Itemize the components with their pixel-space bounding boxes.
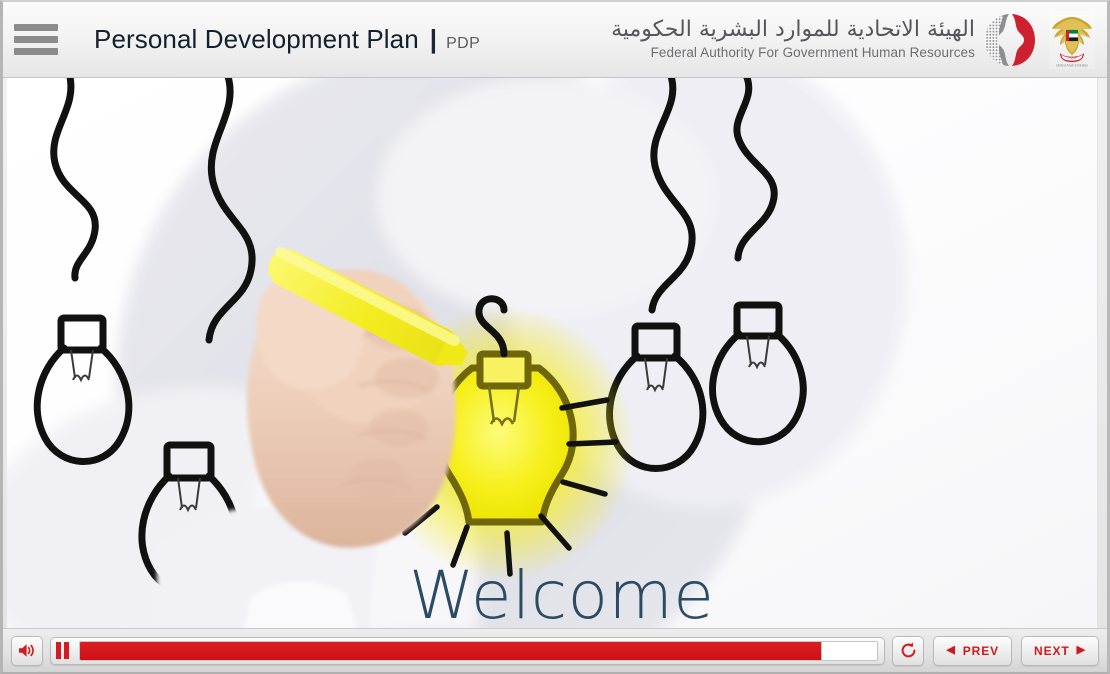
- next-button[interactable]: NEXT ▶: [1021, 636, 1099, 666]
- brand-name-english: Federal Authority For Government Human R…: [611, 46, 975, 60]
- chevron-left-icon: ◀: [946, 645, 955, 656]
- next-button-label: NEXT: [1034, 644, 1070, 658]
- hamburger-bar: [14, 36, 58, 43]
- page-title: Personal Development Plan | PDP: [94, 24, 480, 55]
- player-control-bar: ◀ PREV NEXT ▶: [3, 628, 1107, 672]
- brand-name-arabic: الهيئة الاتحادية للموارد البشرية الحكومي…: [611, 19, 975, 41]
- slide-content-area: Welcome to YOUR development: [7, 78, 1098, 632]
- progress-handle[interactable]: [821, 642, 838, 660]
- volume-icon: [18, 643, 36, 658]
- page-title-abbreviation: PDP: [446, 35, 480, 53]
- seekbar-container: [50, 637, 885, 665]
- fahr-faces-logo-icon: [983, 12, 1037, 68]
- progress-slider[interactable]: [79, 641, 878, 661]
- replay-button[interactable]: [892, 636, 924, 666]
- prev-button[interactable]: ◀ PREV: [933, 636, 1012, 666]
- prev-button-label: PREV: [963, 644, 999, 658]
- hamburger-bar: [14, 24, 58, 31]
- hamburger-bar: [14, 48, 58, 55]
- pause-bar: [56, 642, 61, 659]
- chevron-right-icon: ▶: [1077, 645, 1086, 656]
- brand-text-block: الهيئة الاتحادية للموارد البشرية الحكومي…: [611, 19, 975, 60]
- svg-text:United Arab Emirates: United Arab Emirates: [1056, 63, 1088, 67]
- page-title-main: Personal Development Plan: [94, 24, 419, 55]
- course-player-window: Personal Development Plan | PDP الهيئة ا…: [0, 0, 1110, 674]
- replay-icon: [899, 641, 918, 660]
- volume-button[interactable]: [11, 636, 43, 666]
- title-separator: |: [430, 24, 437, 55]
- slide-illustration: [7, 78, 1097, 632]
- pause-bar: [64, 642, 69, 659]
- progress-fill: [80, 642, 822, 660]
- organization-branding: الهيئة الاتحادية للموارد البشرية الحكومي…: [611, 11, 1107, 69]
- uae-falcon-emblem-icon: الإمارات United Arab Emirates: [1049, 11, 1095, 69]
- hamburger-menu-icon[interactable]: [10, 18, 70, 61]
- app-header: Personal Development Plan | PDP الهيئة ا…: [3, 2, 1107, 78]
- pause-button[interactable]: [56, 642, 72, 659]
